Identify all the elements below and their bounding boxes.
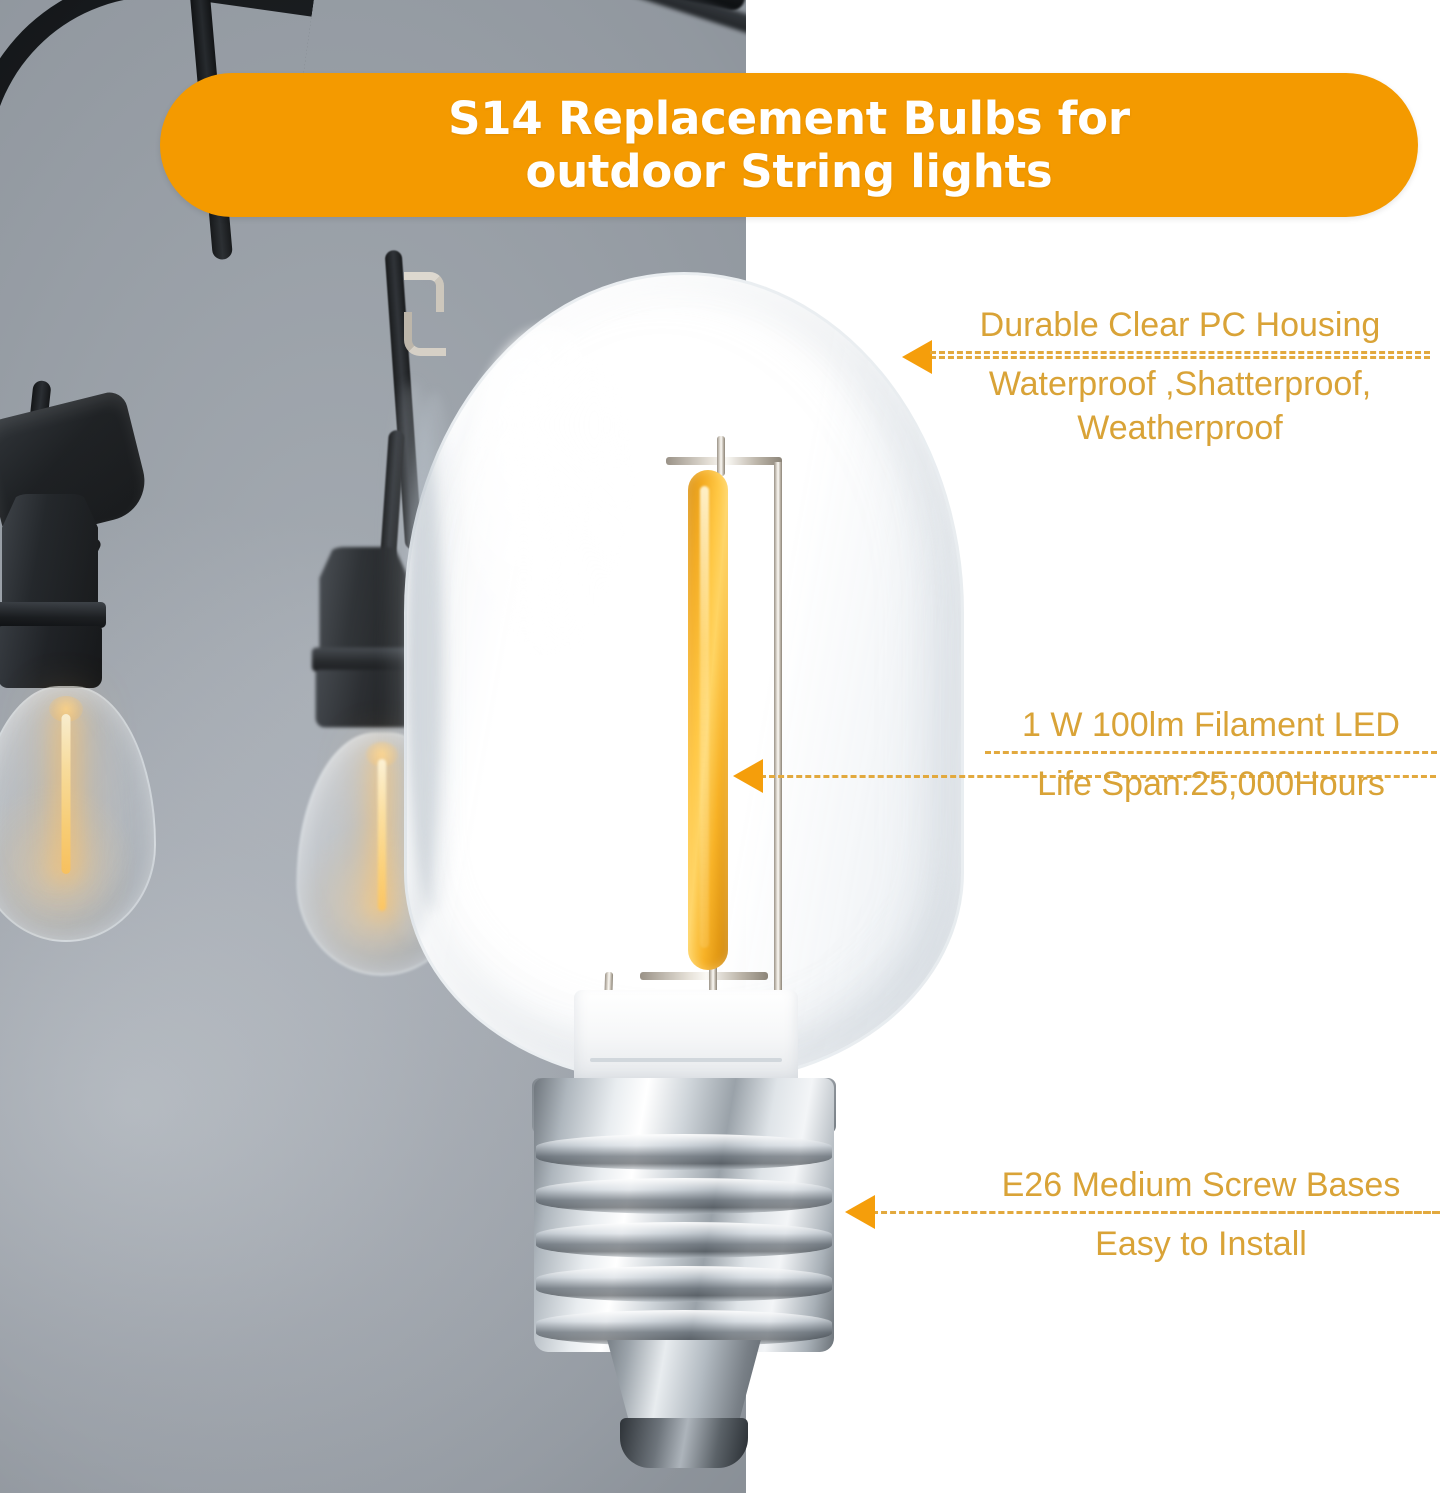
- callout-base-subtitle: Easy to Install: [962, 1222, 1440, 1266]
- callout-divider: [985, 751, 1437, 754]
- filament-support-wire: [404, 312, 446, 356]
- page-title-line-1: S14 Replacement Bulbs for: [448, 92, 1130, 145]
- filament-support-wire: [774, 462, 782, 980]
- filament-support-wire: [640, 972, 768, 980]
- screw-thread: [536, 1266, 832, 1302]
- arrow-left-icon: [845, 1195, 875, 1229]
- screw-thread: [536, 1178, 832, 1214]
- callout-base-title: E26 Medium Screw Bases: [962, 1163, 1440, 1207]
- title-banner: S14 Replacement Bulbs for outdoor String…: [160, 73, 1418, 217]
- callout-divider: [962, 1211, 1440, 1214]
- callout-filament: 1 W 100lm Filament LED Life Span:25,000H…: [985, 703, 1437, 806]
- filament-support-wire: [717, 436, 725, 476]
- screw-thread: [536, 1222, 832, 1258]
- glass-edge-shading: [380, 382, 442, 942]
- callout-divider: [930, 351, 1430, 354]
- bulb-collar-seam: [590, 1058, 782, 1062]
- screw-base-contact: [620, 1418, 748, 1468]
- page-title: S14 Replacement Bulbs for outdoor String…: [394, 92, 1184, 198]
- screw-thread: [536, 1134, 832, 1170]
- led-filament-gloss: [700, 486, 709, 948]
- callout-housing-title: Durable Clear PC Housing: [930, 303, 1430, 347]
- callout-housing-subtitle: Waterproof ,Shatterproof, Weatherproof: [930, 362, 1430, 450]
- callout-filament-subtitle: Life Span:25,000Hours: [985, 762, 1437, 806]
- callout-housing: Durable Clear PC Housing Waterproof ,Sha…: [930, 303, 1430, 451]
- glass-highlight: [464, 326, 634, 656]
- hero-bulb: [404, 272, 446, 356]
- bulb-plastic-collar: [574, 990, 798, 1086]
- arrow-left-icon: [902, 340, 932, 374]
- page-title-line-2: outdoor String lights: [448, 145, 1130, 198]
- filament-support-wire: [404, 272, 444, 312]
- arrow-left-icon: [733, 759, 763, 793]
- callout-base: E26 Medium Screw Bases Easy to Install: [962, 1163, 1440, 1266]
- callout-filament-title: 1 W 100lm Filament LED: [985, 703, 1437, 747]
- infographic-canvas: S14 Replacement Bulbs for outdoor String…: [0, 0, 1445, 1493]
